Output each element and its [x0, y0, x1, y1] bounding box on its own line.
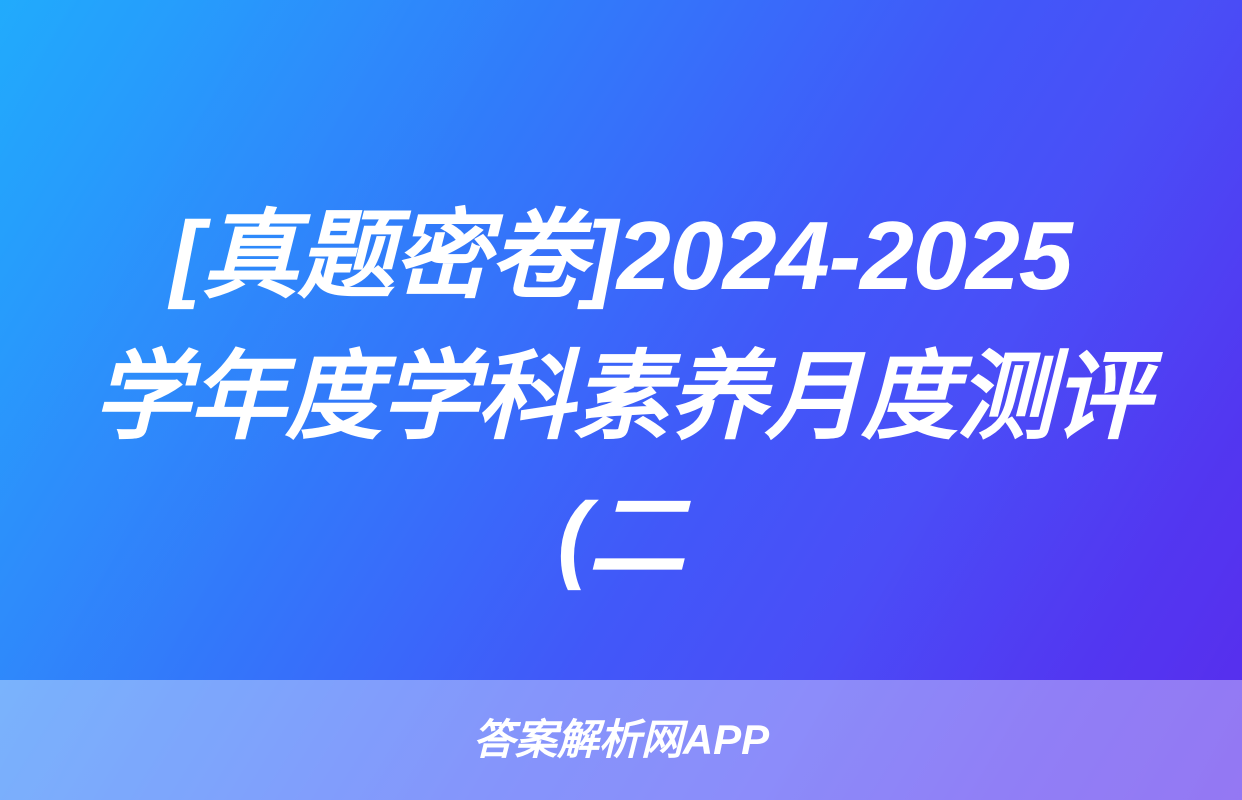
cover-title-line-1: [真题密卷]2024-2025	[46, 186, 1196, 327]
footer-watermark-text: 答案解析网APP	[473, 719, 769, 761]
cover-title-line-3: (二	[46, 467, 1196, 608]
cover-title-block: [真题密卷]2024-2025 学年度学科素养月度测评 (二	[0, 186, 1242, 608]
footer-watermark-band: 答案解析网APP	[0, 680, 1242, 800]
cover-title-line-2: 学年度学科素养月度测评	[46, 327, 1196, 468]
exam-cover-thumbnail: [真题密卷]2024-2025 学年度学科素养月度测评 (二 答案解析网APP	[0, 0, 1242, 800]
